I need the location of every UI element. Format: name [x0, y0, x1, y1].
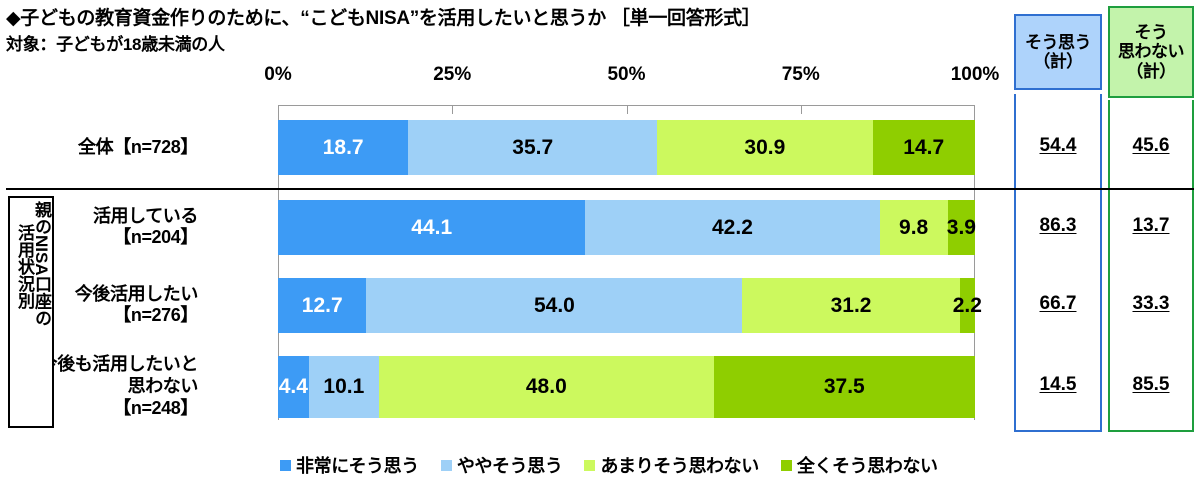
legend-item: あまりそう思わない [584, 452, 758, 478]
bar-segment: 48.0 [379, 356, 714, 418]
page-subtitle: 対象：子どもが18歳未満の人 [6, 30, 225, 55]
bar-row: 18.735.730.914.7 [278, 120, 975, 175]
summary-header-agree-line1: そう思う [1025, 33, 1091, 52]
summary-value-agree: 54.4 [1014, 135, 1102, 157]
summary-value-disagree: 45.6 [1108, 135, 1194, 157]
legend-item: ややそう思う [441, 452, 563, 478]
bar-segment-value: 44.1 [411, 216, 452, 240]
legend: 非常にそう思うややそう思うあまりそう思わない全くそう思わない [280, 452, 938, 478]
row-label-line: 【n=204】 [93, 227, 198, 249]
row-label: 活用している【n=204】 [93, 206, 198, 250]
row-label-line: 今後活用したい [75, 284, 198, 306]
bar-segment-value: 10.1 [323, 375, 364, 399]
bar-segment-value: 12.7 [302, 294, 343, 318]
bar-segment: 4.4 [278, 356, 309, 418]
summary-header-agree: そう思う （計） [1014, 14, 1102, 90]
bar-segment: 9.8 [880, 200, 948, 255]
legend-swatch-icon [584, 460, 595, 471]
bar-segment: 12.7 [278, 278, 366, 333]
bar-segment: 10.1 [309, 356, 379, 418]
summary-header-agree-line2: （計） [1025, 52, 1091, 71]
bar-segment-value: 31.2 [831, 294, 872, 318]
section-divider-summary [1014, 188, 1194, 189]
gridline [452, 105, 453, 114]
x-axis-tick-label: 75% [782, 64, 820, 86]
gridline [627, 105, 628, 114]
bar-segment: 31.2 [742, 278, 959, 333]
bar-segment-value: 9.8 [899, 216, 928, 240]
group-label-box: 親のNISA口座の 活用状況別 [8, 196, 54, 428]
legend-label: あまりそう思わない [600, 452, 758, 478]
x-axis-tick-label: 0% [264, 64, 291, 86]
bar-row: 4.410.148.037.5 [278, 356, 975, 418]
bar-segment: 14.7 [873, 120, 975, 175]
bar-segment-value: 30.9 [744, 136, 785, 160]
legend-item: 非常にそう思う [280, 452, 419, 478]
x-axis-tick-label: 25% [433, 64, 471, 86]
bar-row: 44.142.29.83.9 [278, 200, 975, 255]
bar-segment-value: 35.7 [512, 136, 553, 160]
bar-segment-value: 54.0 [534, 294, 575, 318]
x-axis-tick-label: 50% [607, 64, 645, 86]
bar-segment-value: 48.0 [526, 375, 567, 399]
bar-segment-value: 14.7 [903, 136, 944, 160]
bar-segment: 35.7 [408, 120, 657, 175]
summary-header-disagree: そう 思わない （計） [1108, 6, 1194, 98]
bar-segment: 44.1 [278, 200, 585, 255]
summary-header-disagree-line3: （計） [1118, 62, 1184, 81]
row-label-line: 【n=248】 [40, 398, 198, 420]
gridline [801, 105, 802, 114]
bar-row: 12.754.031.22.2 [278, 278, 975, 333]
bar-segment-value: 4.4 [279, 375, 308, 399]
legend-label: 全くそう思わない [797, 452, 938, 478]
summary-value-agree: 14.5 [1014, 374, 1102, 396]
legend-label: 非常にそう思う [296, 452, 419, 478]
bar-segment: 3.9 [948, 200, 975, 255]
summary-value-disagree: 33.3 [1108, 293, 1194, 315]
bar-segment-value: 37.5 [824, 375, 865, 399]
summary-value-disagree: 85.5 [1108, 374, 1194, 396]
legend-label: ややそう思う [457, 452, 563, 478]
row-label: 今後活用したい【n=276】 [75, 284, 198, 328]
row-label: 今後も活用したいと思わない【n=248】 [40, 354, 198, 420]
row-label-line: 活用している [93, 206, 198, 228]
row-label-line: 今後も活用したいと [40, 354, 198, 376]
bar-segment-value: 3.9 [947, 216, 976, 240]
bar-segment: 42.2 [585, 200, 879, 255]
summary-value-agree: 86.3 [1014, 215, 1102, 237]
row-label-line: 全体【n=728】 [78, 137, 198, 159]
bar-segment: 18.7 [278, 120, 408, 175]
row-label-line: 思わない [40, 376, 198, 398]
summary-header-disagree-line2: 思わない [1118, 42, 1184, 61]
page-title: ◆子どもの教育資金作りのために、“こどもNISA”を活用したいと思うか ［単一回… [6, 3, 761, 30]
group-label-column1: 親のNISA口座の [33, 198, 50, 327]
bar-segment-value: 42.2 [712, 216, 753, 240]
bar-segment: 37.5 [714, 356, 975, 418]
legend-swatch-icon [441, 460, 452, 471]
row-label: 全体【n=728】 [78, 137, 198, 159]
bar-segment-value: 2.2 [953, 294, 982, 318]
bar-segment: 30.9 [657, 120, 872, 175]
row-label-line: 【n=276】 [75, 305, 198, 327]
legend-swatch-icon [280, 460, 291, 471]
bar-segment: 2.2 [960, 278, 975, 333]
legend-item: 全くそう思わない [781, 452, 938, 478]
summary-value-agree: 66.7 [1014, 293, 1102, 315]
x-axis-tick-label: 100% [951, 64, 1000, 86]
group-label-column2: 活用状況別 [16, 198, 33, 309]
summary-value-disagree: 13.7 [1108, 215, 1194, 237]
bar-segment: 54.0 [366, 278, 742, 333]
legend-swatch-icon [781, 460, 792, 471]
summary-header-disagree-line1: そう [1118, 23, 1184, 42]
bar-segment-value: 18.7 [323, 136, 364, 160]
